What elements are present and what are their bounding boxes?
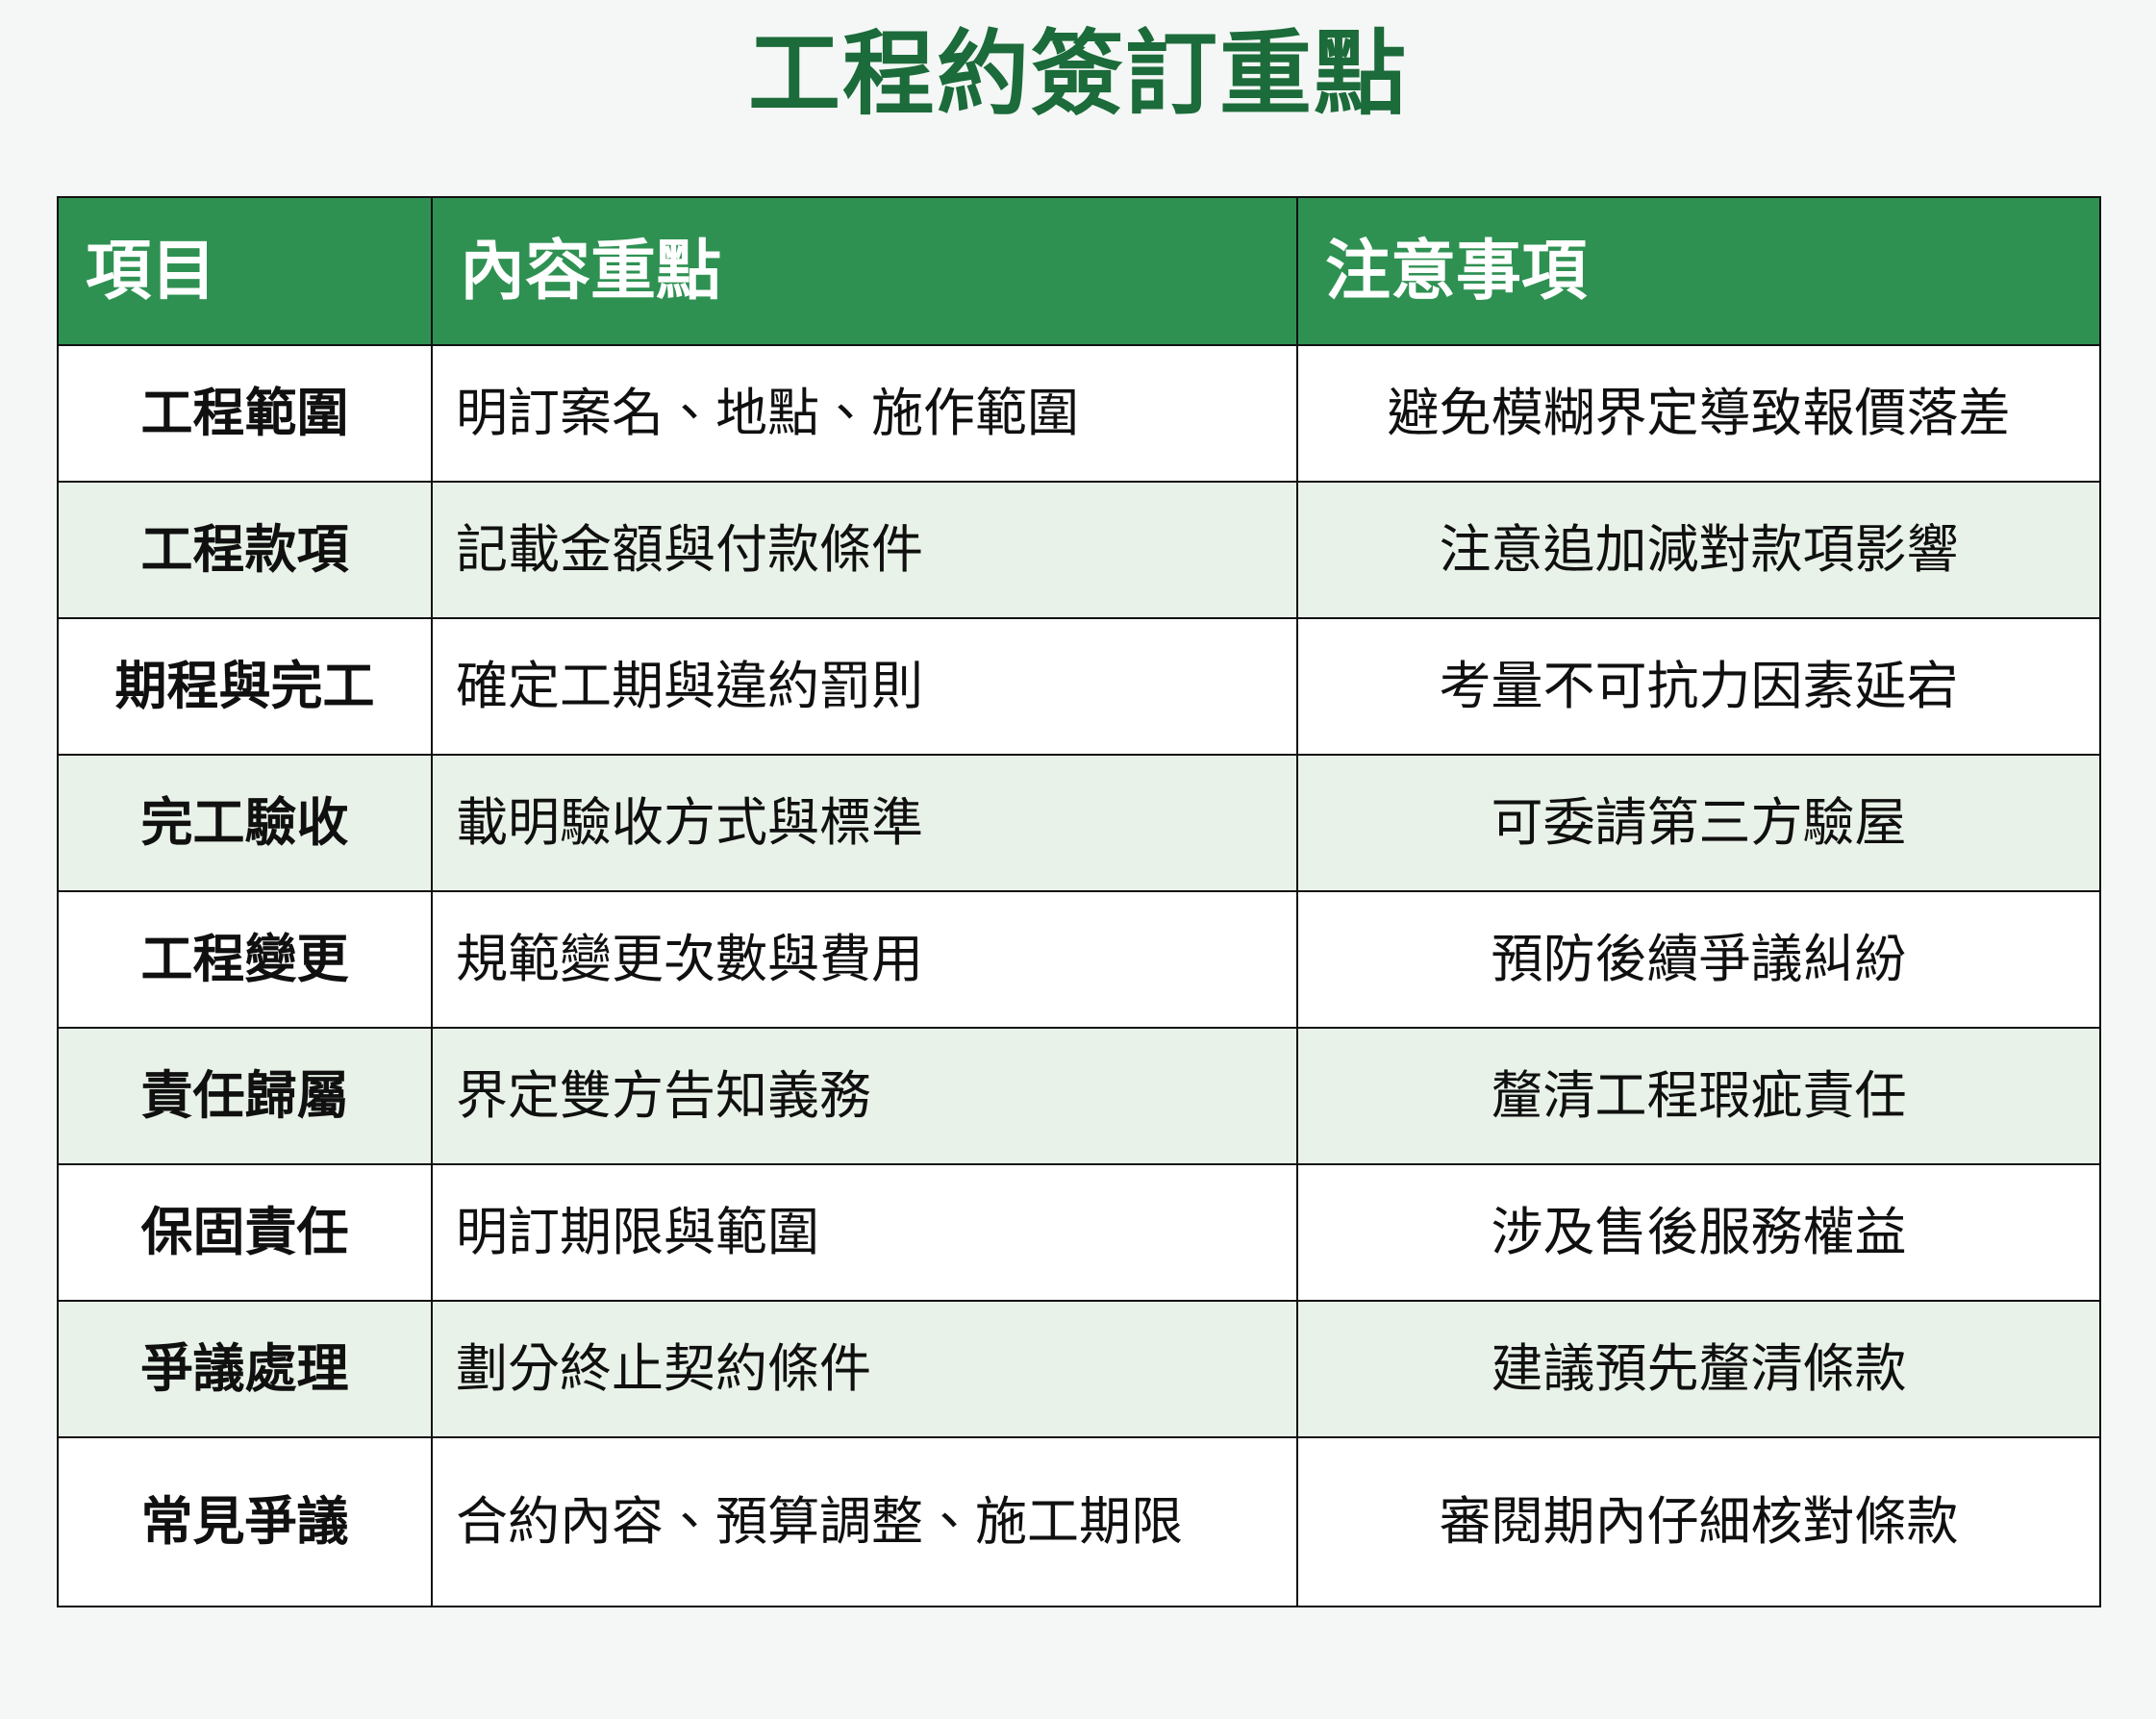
- cell-item: 工程款項: [58, 482, 432, 618]
- cell-point: 合約內容、預算調整、施工期限: [432, 1437, 1297, 1607]
- cell-note: 預防後續爭議糾紛: [1297, 891, 2100, 1028]
- cell-point: 確定工期與違約罰則: [432, 618, 1297, 755]
- table-row: 常見爭議 合約內容、預算調整、施工期限 審閱期內仔細核對條款: [58, 1437, 2100, 1607]
- cell-note: 釐清工程瑕疵責任: [1297, 1028, 2100, 1164]
- cell-note: 建議預先釐清條款: [1297, 1301, 2100, 1437]
- table-row: 完工驗收 載明驗收方式與標準 可委請第三方驗屋: [58, 755, 2100, 891]
- cell-item: 期程與完工: [58, 618, 432, 755]
- cell-point: 明訂案名、地點、施作範圍: [432, 345, 1297, 482]
- cell-point: 載明驗收方式與標準: [432, 755, 1297, 891]
- cell-item: 工程變更: [58, 891, 432, 1028]
- cell-point: 明訂期限與範圍: [432, 1164, 1297, 1301]
- table-header: 項目 內容重點 注意事項: [58, 197, 2100, 345]
- cell-note: 考量不可抗力因素延宕: [1297, 618, 2100, 755]
- key-points-table: 項目 內容重點 注意事項 工程範圍 明訂案名、地點、施作範圍 避免模糊界定導致報…: [57, 196, 2101, 1607]
- table-row: 爭議處理 劃分終止契約條件 建議預先釐清條款: [58, 1301, 2100, 1437]
- cell-note: 可委請第三方驗屋: [1297, 755, 2100, 891]
- table-row: 期程與完工 確定工期與違約罰則 考量不可抗力因素延宕: [58, 618, 2100, 755]
- table-body: 工程範圍 明訂案名、地點、施作範圍 避免模糊界定導致報價落差 工程款項 記載金額…: [58, 345, 2100, 1607]
- cell-point: 界定雙方告知義務: [432, 1028, 1297, 1164]
- cell-point: 規範變更次數與費用: [432, 891, 1297, 1028]
- table-row: 責任歸屬 界定雙方告知義務 釐清工程瑕疵責任: [58, 1028, 2100, 1164]
- table-header-row: 項目 內容重點 注意事項: [58, 197, 2100, 345]
- key-points-table-container: 項目 內容重點 注意事項 工程範圍 明訂案名、地點、施作範圍 避免模糊界定導致報…: [57, 196, 2099, 1607]
- slide-page: 工程約簽訂重點 項目 內容重點 注意事項 工程範圍 明訂案名、地點、施作範圍 避…: [0, 0, 2156, 1719]
- cell-item: 工程範圍: [58, 345, 432, 482]
- cell-note: 涉及售後服務權益: [1297, 1164, 2100, 1301]
- table-row: 工程範圍 明訂案名、地點、施作範圍 避免模糊界定導致報價落差: [58, 345, 2100, 482]
- cell-note: 審閱期內仔細核對條款: [1297, 1437, 2100, 1607]
- column-header-point: 內容重點: [432, 197, 1297, 345]
- cell-item: 保固責任: [58, 1164, 432, 1301]
- table-row: 保固責任 明訂期限與範圍 涉及售後服務權益: [58, 1164, 2100, 1301]
- table-row: 工程變更 規範變更次數與費用 預防後續爭議糾紛: [58, 891, 2100, 1028]
- cell-note: 注意追加減對款項影響: [1297, 482, 2100, 618]
- cell-point: 劃分終止契約條件: [432, 1301, 1297, 1437]
- cell-item: 爭議處理: [58, 1301, 432, 1437]
- cell-note: 避免模糊界定導致報價落差: [1297, 345, 2100, 482]
- cell-item: 完工驗收: [58, 755, 432, 891]
- cell-point: 記載金額與付款條件: [432, 482, 1297, 618]
- column-header-item: 項目: [58, 197, 432, 345]
- column-header-note: 注意事項: [1297, 197, 2100, 345]
- cell-item: 常見爭議: [58, 1437, 432, 1607]
- page-title: 工程約簽訂重點: [0, 17, 2156, 133]
- cell-item: 責任歸屬: [58, 1028, 432, 1164]
- table-row: 工程款項 記載金額與付款條件 注意追加減對款項影響: [58, 482, 2100, 618]
